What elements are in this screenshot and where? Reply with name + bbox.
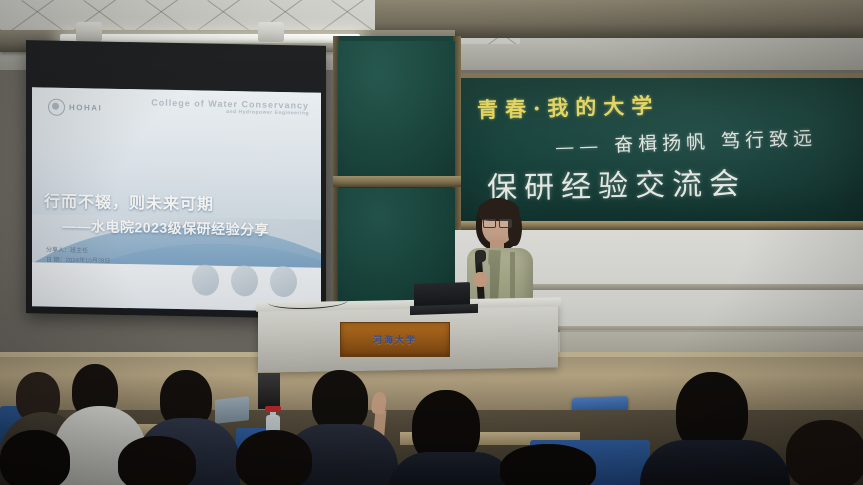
slide-date: 日 期：2024年10月28日 bbox=[46, 256, 110, 267]
slide-meta: 分享人：班主任 日 期：2024年10月28日 bbox=[46, 246, 110, 268]
audience-head bbox=[312, 370, 368, 432]
water-bottle-cap bbox=[265, 406, 281, 412]
board-pane-upper bbox=[338, 41, 455, 177]
slide-subtitle: ——水电院2023级保研经验分享 bbox=[62, 216, 269, 240]
light-mount-left bbox=[76, 22, 102, 42]
equipment-box bbox=[258, 373, 280, 409]
microphone-head bbox=[475, 250, 486, 262]
audience-head bbox=[786, 420, 863, 485]
speaker-glasses-icon bbox=[483, 219, 511, 226]
board-mid-ledge bbox=[333, 176, 461, 187]
audience-body bbox=[640, 440, 790, 485]
speaker-hair-side bbox=[508, 210, 522, 246]
slide-thumbnail-2 bbox=[231, 265, 258, 297]
slide-thumbnails bbox=[192, 264, 297, 297]
university-seal-icon bbox=[48, 99, 65, 116]
slide-logo-left-text: HOHAI bbox=[69, 103, 102, 113]
audience-head bbox=[500, 444, 596, 485]
audience-head bbox=[0, 430, 70, 485]
slide-surface: HOHAI College of Water Conservancy and H… bbox=[32, 87, 321, 312]
projection-screen: HOHAI College of Water Conservancy and H… bbox=[26, 40, 326, 319]
audience-head bbox=[236, 430, 312, 485]
speaker-hand bbox=[474, 272, 487, 287]
slide-title: 行而不辍，则未来可期 bbox=[44, 187, 214, 214]
podium-plaque: 河海大学 bbox=[340, 322, 450, 357]
light-mount-right bbox=[258, 22, 284, 42]
lecture-hall-photo: 青春·我的大学 —— 奋楫扬帆 笃行致远 保研经验交流会 HOHAI Colle… bbox=[0, 0, 863, 485]
slide-thumbnail-3 bbox=[270, 266, 297, 298]
side-chalkboard-panel bbox=[333, 36, 461, 321]
audience-head bbox=[118, 436, 196, 485]
slide-university-logo: HOHAI bbox=[48, 99, 102, 117]
slide-college-logo: College of Water Conservancy and Hydropo… bbox=[151, 99, 309, 117]
blackboard-line-white-1: —— 奋楫扬帆 笃行致远 bbox=[555, 123, 818, 159]
audience-laptop bbox=[215, 396, 249, 424]
audience-body bbox=[388, 452, 516, 485]
podium-plaque-text: 河海大学 bbox=[373, 333, 417, 346]
blackboard-line-yellow: 青春·我的大学 bbox=[477, 90, 660, 125]
slide-thumbnail-1 bbox=[192, 264, 219, 296]
